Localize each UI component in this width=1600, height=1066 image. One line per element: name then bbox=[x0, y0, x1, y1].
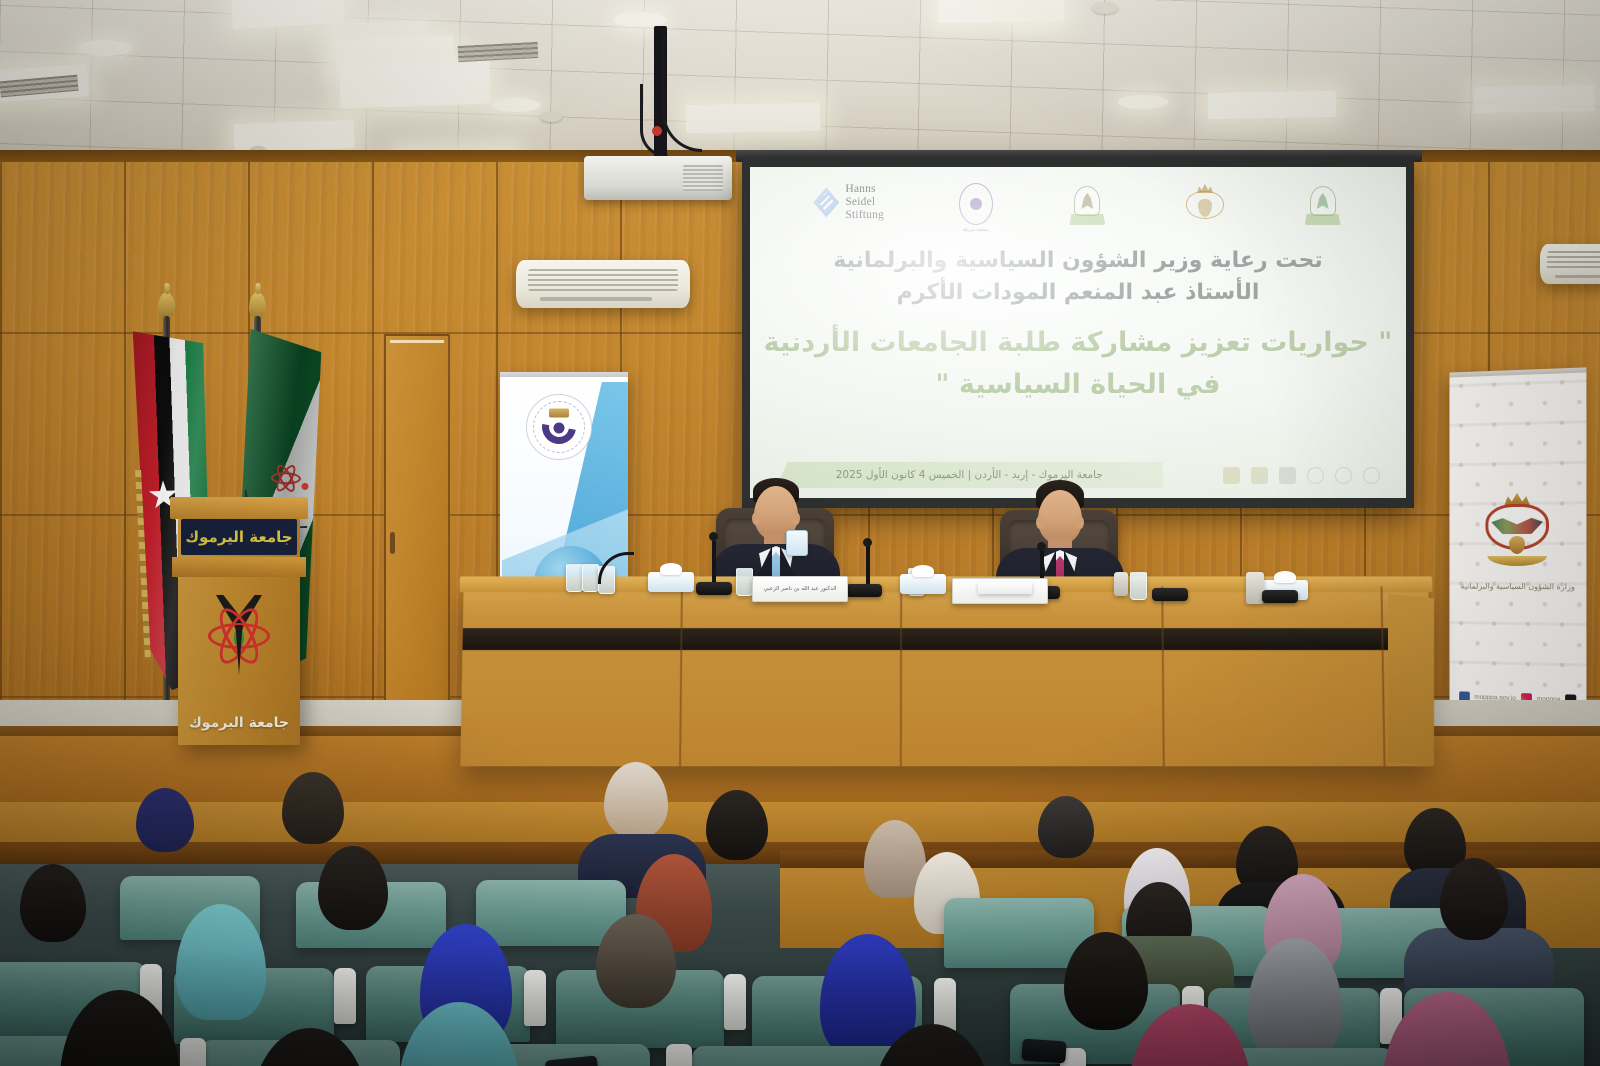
water-glass bbox=[736, 568, 753, 596]
audience-area bbox=[0, 812, 1600, 1066]
microphone-base bbox=[846, 584, 882, 597]
podium-name-plate: جامعة اليرموك bbox=[181, 519, 297, 555]
flag-finial-icon bbox=[158, 292, 175, 318]
logo-gold-bar-icon bbox=[549, 408, 569, 417]
microphone-stand bbox=[866, 544, 870, 588]
logo-dot-icon bbox=[554, 423, 565, 434]
yarmouk-atom-logo-icon bbox=[204, 597, 274, 675]
purple-logo-caption: منظمة شريكة bbox=[959, 227, 993, 233]
banner-ministry-caption: وزارة الشؤون السياسية والبرلمانية bbox=[1449, 582, 1586, 592]
microphone-stand bbox=[712, 540, 716, 588]
microphone-head-icon bbox=[863, 538, 872, 547]
ministry-rollup-banner: وزارة الشؤون السياسية والبرلمانية mopppa… bbox=[1449, 367, 1586, 744]
projector-indicator-light bbox=[652, 126, 662, 136]
slide-title-line2: في الحياة السياسية " bbox=[750, 365, 1406, 406]
table-seam bbox=[1161, 586, 1165, 766]
lectern-podium: جامعة اليرموك جامعة اليرموك bbox=[178, 515, 300, 745]
seat-armrest bbox=[524, 970, 546, 1026]
projection-screen-frame: Hanns Seidel Stiftung منظمة شريكة bbox=[742, 158, 1414, 508]
podium-front-text: جامعة اليرموك bbox=[178, 715, 300, 731]
hanns-seidel-text: Hanns Seidel Stiftung bbox=[845, 183, 884, 222]
orb-icon bbox=[1509, 536, 1525, 554]
slide-title-line1: " حواريات تعزيز مشاركة طلبة الجامعات الأ… bbox=[750, 323, 1406, 364]
microphone-head-icon bbox=[1037, 542, 1046, 551]
logo-green-crest-2 bbox=[1303, 183, 1343, 227]
auditorium-seat[interactable] bbox=[692, 1046, 902, 1066]
microphone-base bbox=[1262, 590, 1298, 603]
mobile-phone[interactable] bbox=[1021, 1038, 1066, 1063]
slide-footer-logos bbox=[1223, 467, 1380, 484]
flag-finial-icon bbox=[249, 292, 266, 318]
papers-on-table bbox=[978, 582, 1032, 594]
water-glass bbox=[1130, 572, 1147, 600]
footer-logo-icon bbox=[1335, 467, 1352, 484]
logo-hanns-seidel-stiftung: Hanns Seidel Stiftung bbox=[813, 183, 884, 222]
logo-green-crest-1 bbox=[1067, 183, 1107, 227]
water-glass bbox=[566, 564, 583, 592]
ribbon-icon bbox=[1487, 556, 1547, 566]
tissue-box bbox=[648, 572, 694, 592]
logo-royal-coat-of-arms bbox=[1182, 183, 1228, 229]
speaker-left-ear bbox=[792, 512, 800, 525]
slide-patronage-line2: الأستاذ عبد المنعم المودات الأكرم bbox=[750, 277, 1406, 309]
microphone-base bbox=[696, 582, 732, 595]
table-dark-stripe bbox=[462, 628, 1429, 650]
hanns-seidel-diamond-icon bbox=[813, 187, 839, 217]
banner-circular-logo bbox=[526, 394, 592, 460]
footer-logo-icon bbox=[1251, 467, 1268, 484]
microphone-head-icon bbox=[709, 532, 718, 541]
slide-partner-logos: Hanns Seidel Stiftung منظمة شريكة bbox=[750, 183, 1406, 233]
water-glass bbox=[582, 564, 599, 592]
footer-logo-icon bbox=[1363, 467, 1380, 484]
ceiling-projector bbox=[584, 156, 732, 200]
seat-armrest bbox=[666, 1044, 692, 1066]
microphone-base bbox=[1152, 588, 1188, 601]
royal-coat-of-arms-icon bbox=[1480, 492, 1555, 577]
logo-purple-circle: منظمة شريكة bbox=[959, 183, 993, 233]
crest-base-icon bbox=[1069, 214, 1105, 225]
seat-armrest bbox=[180, 1038, 206, 1066]
slide-patronage-line1: تحت رعاية وزير الشؤون السياسية والبرلمان… bbox=[750, 245, 1406, 277]
podium-top-surface bbox=[170, 497, 308, 519]
table-side-return bbox=[1388, 594, 1434, 767]
speaker-right-head bbox=[1038, 490, 1082, 544]
hsf-line1: Hanns bbox=[845, 183, 884, 196]
audience-head bbox=[1038, 796, 1094, 858]
side-door[interactable] bbox=[384, 334, 450, 706]
table-seam bbox=[900, 586, 902, 766]
footer-logo-icon bbox=[1223, 467, 1240, 484]
seat-armrest bbox=[334, 968, 356, 1024]
projection-screen: Hanns Seidel Stiftung منظمة شريكة bbox=[750, 167, 1406, 498]
podium-ledge bbox=[172, 557, 306, 577]
conference-hall-photo: Hanns Seidel Stiftung منظمة شريكة bbox=[0, 0, 1600, 1066]
hsf-line2: Seidel bbox=[845, 196, 884, 209]
speaker-right-ear bbox=[1076, 516, 1084, 529]
air-conditioner-unit bbox=[1540, 244, 1600, 284]
banner-top-bar bbox=[500, 372, 628, 377]
air-conditioner-unit bbox=[516, 260, 690, 308]
seat-armrest bbox=[724, 974, 746, 1030]
footer-logo-icon bbox=[1279, 467, 1296, 484]
table-seam bbox=[679, 586, 683, 766]
speaker-left-nameplate-text: الدكتور عبد الله بن ناصر الزعبي bbox=[764, 585, 837, 593]
head-table bbox=[460, 586, 1431, 766]
purple-circle-icon bbox=[959, 183, 993, 225]
footer-logo-icon bbox=[1307, 467, 1324, 484]
tissue-box bbox=[900, 574, 946, 594]
microphone-logo-flag bbox=[786, 530, 808, 556]
hsf-line3: Stiftung bbox=[845, 209, 884, 222]
projector-cable bbox=[662, 34, 702, 152]
speaker-left-ear bbox=[752, 512, 760, 525]
podium-plate-text: جامعة اليرموك bbox=[185, 528, 292, 546]
speaker-left-nameplate: الدكتور عبد الله بن ناصر الزعبي bbox=[752, 576, 848, 602]
door-handle-icon[interactable] bbox=[390, 532, 395, 554]
table-seam bbox=[1380, 586, 1385, 766]
thermos-flask bbox=[1114, 572, 1128, 596]
audience-head bbox=[20, 864, 86, 942]
slide-text-block: تحت رعاية وزير الشؤون السياسية والبرلمان… bbox=[750, 245, 1406, 406]
speaker-right-ear bbox=[1036, 516, 1044, 529]
crest-base-icon bbox=[1305, 214, 1341, 225]
